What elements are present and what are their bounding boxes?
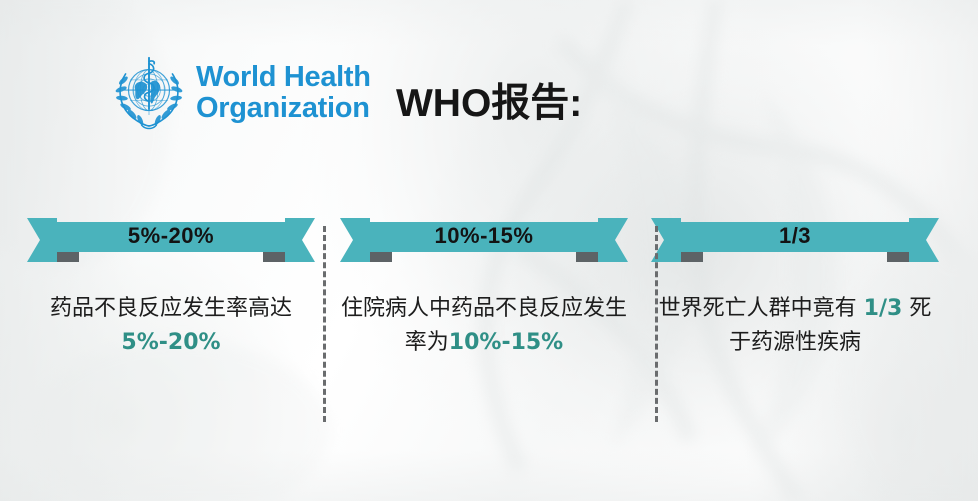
ribbon-banner-3: 1/3 — [651, 212, 939, 268]
who-brand-lockup: World Health Organization — [112, 52, 371, 134]
ribbon-value-3: 1/3 — [651, 220, 939, 252]
who-wordmark: World Health Organization — [196, 62, 371, 124]
ribbon-banner-2: 10%-15% — [340, 212, 628, 268]
stat-column-3: 1/3 世界死亡人群中竟有 1/3 死于药源性疾病 — [651, 212, 951, 360]
stat-caption-1: 药品不良反应发生率高达5%-20% — [27, 292, 315, 360]
stat-column-1: 5%-20% 药品不良反应发生率高达5%-20% — [27, 212, 327, 360]
who-emblem-icon — [112, 52, 186, 134]
caption-highlight-3: 1/3 — [864, 296, 903, 321]
caption-highlight-1: 5%-20% — [121, 330, 220, 355]
column-divider-1 — [323, 226, 326, 422]
caption-text-1: 药品不良反应发生率高达 — [50, 296, 292, 321]
ribbon-value-1: 5%-20% — [27, 220, 315, 252]
infographic-canvas: World Health Organization WHO报告: 5%-20% … — [0, 0, 978, 501]
caption-text-3: 世界死亡人群中竟有 — [659, 296, 864, 321]
stat-caption-2: 住院病人中药品不良反应发生率为10%-15% — [340, 292, 628, 360]
stats-columns: 5%-20% 药品不良反应发生率高达5%-20% 10%-15% 住院病人中药品… — [0, 212, 978, 442]
who-wordmark-line2: Organization — [196, 93, 371, 124]
stat-column-2: 10%-15% 住院病人中药品不良反应发生率为10%-15% — [340, 212, 640, 360]
caption-highlight-2: 10%-15% — [449, 330, 563, 355]
page-title: WHO报告: — [396, 72, 582, 128]
ribbon-banner-1: 5%-20% — [27, 212, 315, 268]
who-wordmark-line1: World Health — [196, 62, 371, 93]
column-divider-2 — [655, 226, 658, 422]
ribbon-value-2: 10%-15% — [340, 220, 628, 252]
stat-caption-3: 世界死亡人群中竟有 1/3 死于药源性疾病 — [651, 292, 939, 360]
